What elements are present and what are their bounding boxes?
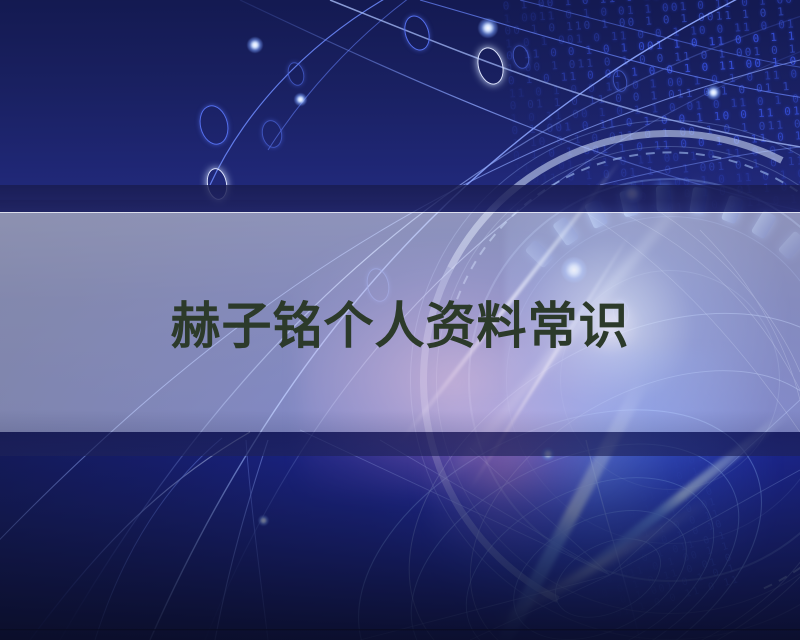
ring-tick — [581, 166, 590, 171]
ring-tick — [629, 154, 638, 157]
ring-tick — [662, 151, 671, 153]
background-bottom-shade — [0, 410, 800, 640]
spark-2 — [478, 18, 498, 38]
ring-tick — [760, 170, 769, 176]
ring-tick — [597, 161, 606, 166]
band-dark-upper — [0, 185, 800, 212]
ring-tick — [728, 159, 737, 163]
ring-tick — [744, 164, 753, 169]
ring-tick — [566, 173, 575, 179]
ring-tick — [775, 177, 784, 183]
bottom-hairline — [0, 629, 800, 631]
banner-title: 赫子铭个人资料常识 — [171, 301, 630, 351]
ring-tick — [646, 152, 655, 155]
ring-tick — [696, 153, 705, 156]
spark-3 — [294, 93, 307, 106]
ring-tick — [679, 152, 688, 155]
spark-1 — [247, 37, 263, 53]
title-container: 赫子铭个人资料常识 — [0, 212, 800, 432]
tech-banner: 0 1 00 1 0 11 0 010 1 1 0011 0 11 0011 0… — [0, 0, 800, 640]
spark-4 — [706, 85, 721, 100]
ring-tick — [712, 155, 721, 159]
